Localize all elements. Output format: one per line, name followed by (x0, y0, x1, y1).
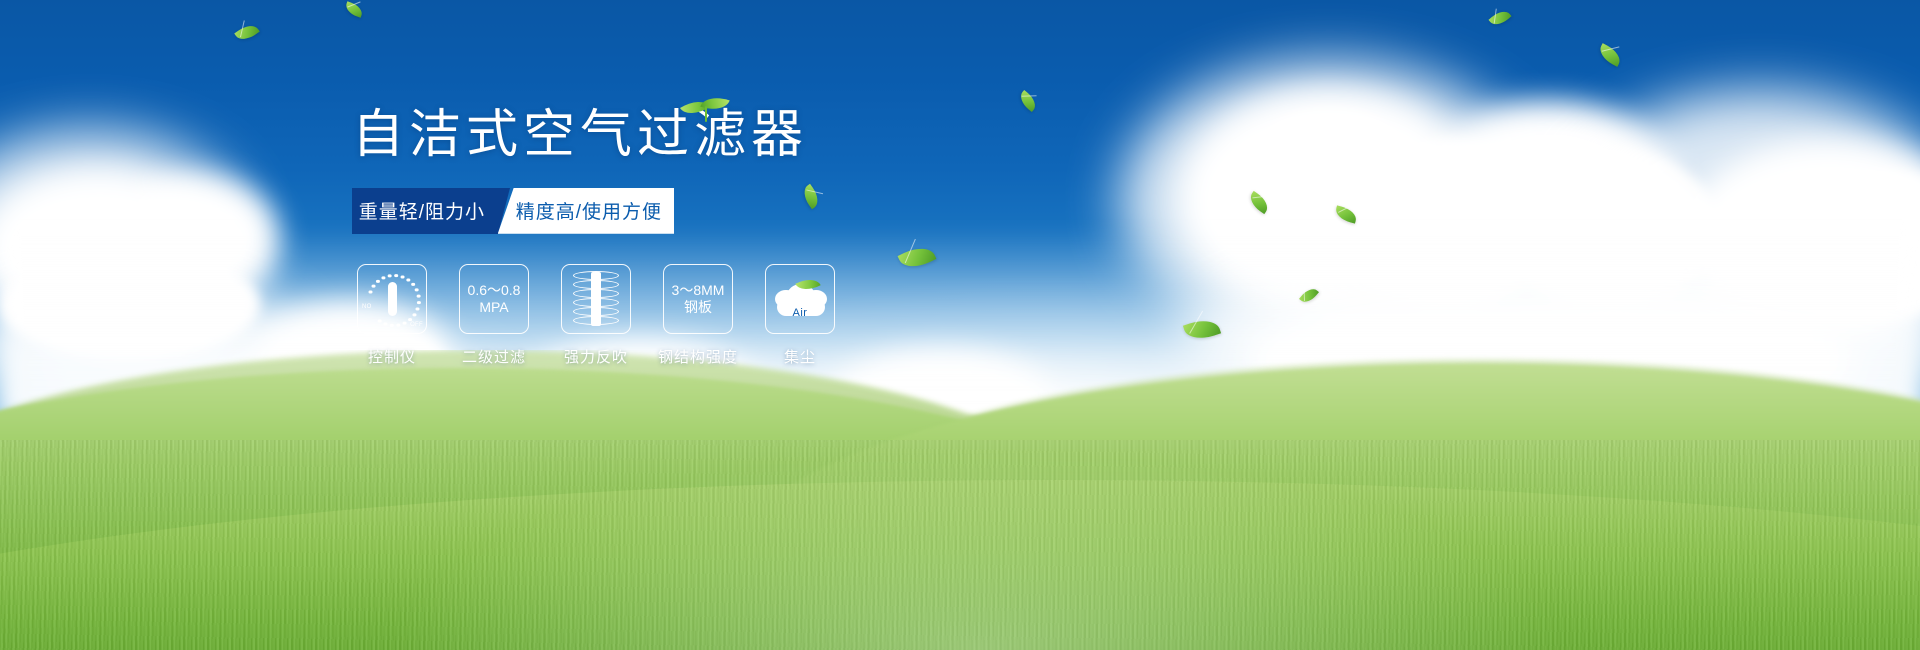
feature-label: 集尘 (784, 346, 816, 367)
feature-label: 钢结构强度 (658, 346, 738, 367)
feature-icon-box: NO OFF (357, 264, 427, 334)
feature-label: 强力反吹 (564, 346, 628, 367)
feature-item-backblow[interactable]: 强力反吹 (556, 264, 636, 367)
feature-list: NO OFF 控制仪 0.6～0.8 MPA 二级过滤 (352, 264, 992, 367)
feature-item-dust-collection[interactable]: Air 集尘 (760, 264, 840, 367)
feature-label: 控制仪 (368, 346, 416, 367)
feature-item-controller[interactable]: NO OFF 控制仪 (352, 264, 432, 367)
sprout-leaf-icon (682, 88, 732, 122)
tag-group: 重量轻/阻力小 精度高/使用方便 (352, 188, 674, 234)
feature-icon-box (561, 264, 631, 334)
feature-icon-box: 3～8MM 钢板 (663, 264, 733, 334)
gauge-icon: NO OFF (363, 270, 421, 328)
grass-field (0, 350, 1920, 650)
feature-item-steel-strength[interactable]: 3～8MM 钢板 钢结构强度 (658, 264, 738, 367)
tag-weight-resistance[interactable]: 重量轻/阻力小 (352, 188, 498, 234)
air-label: Air (771, 307, 829, 319)
page-title: 自洁式空气过滤器 (352, 106, 992, 166)
icon-text-line: MPA (468, 299, 521, 316)
steel-plate-text-icon: 3～8MM 钢板 (672, 282, 725, 316)
icon-text-line: 0.6～0.8 (468, 282, 521, 299)
filter-stack-icon (573, 271, 619, 327)
banner-content: 自洁式空气过滤器 重量轻/阻力小 精度高/使用方便 (352, 106, 992, 367)
tag-precision-ease[interactable]: 精度高/使用方便 (498, 188, 674, 234)
dust-cloud-icon: Air (771, 276, 829, 322)
gauge-off-label: OFF (410, 322, 423, 328)
pressure-text-icon: 0.6～0.8 MPA (468, 282, 521, 316)
hero-banner: 自洁式空气过滤器 重量轻/阻力小 精度高/使用方便 (0, 0, 1920, 650)
feature-icon-box: Air (765, 264, 835, 334)
gauge-no-label: NO (362, 304, 372, 310)
icon-text-line: 钢板 (672, 299, 725, 316)
feature-label: 二级过滤 (462, 346, 526, 367)
feature-item-two-stage-filter[interactable]: 0.6～0.8 MPA 二级过滤 (454, 264, 534, 367)
feature-icon-box: 0.6～0.8 MPA (459, 264, 529, 334)
icon-text-line: 3～8MM (672, 282, 725, 299)
